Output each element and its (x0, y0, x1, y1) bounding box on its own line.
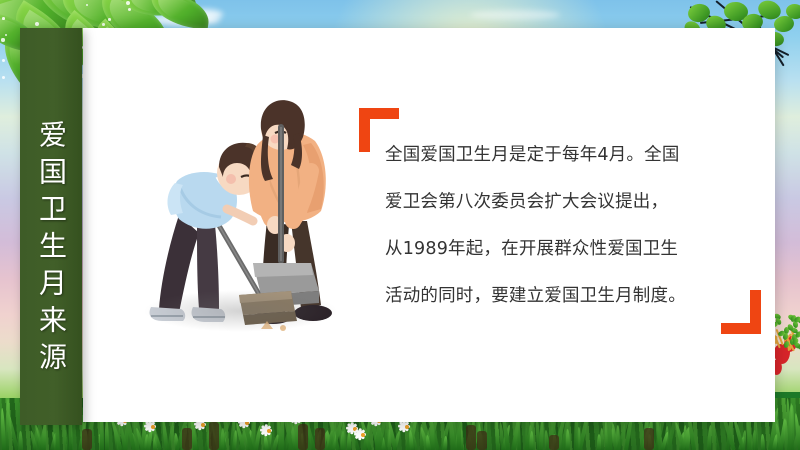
soil-clump-icon (644, 428, 654, 450)
soil-clump-icon (315, 428, 325, 450)
cloud-icon (470, 10, 560, 20)
soil-clump-icon (209, 422, 219, 450)
soil-clump-icon (466, 425, 476, 450)
grass-blade-icon (18, 431, 23, 450)
grass-blade-icon (761, 434, 766, 450)
body-line: 活动的同时，要建立爱国卫生月制度。 (385, 273, 725, 320)
grass-blade-icon (539, 419, 544, 450)
daisy-flower-icon (356, 428, 369, 441)
body-line: 从1989年起，在开展群众性爱国卫生 (385, 226, 725, 273)
grass-blade-icon (565, 429, 569, 450)
dew-drop-icon (86, 4, 88, 6)
body-line: 全国爱国卫生月是定于每年4月。全国 (385, 132, 725, 179)
body-paragraph: 全国爱国卫生月是定于每年4月。全国 爱卫会第八次委员会扩大会议提出， 从1989… (385, 132, 725, 320)
soil-clump-icon (298, 424, 308, 450)
soil-clump-icon (549, 435, 559, 450)
illustration-sweeping (135, 85, 350, 350)
dew-drop-icon (102, 23, 105, 26)
dew-drop-icon (108, 18, 111, 21)
soil-clump-icon (182, 428, 192, 450)
dew-drop-icon (2, 59, 5, 62)
dew-drop-icon (2, 17, 5, 20)
grass-blade-icon (342, 422, 346, 450)
corner-bracket-bottom-right-icon (721, 290, 761, 334)
soil-clump-icon (82, 429, 92, 450)
dew-drop-icon (35, 22, 39, 26)
dew-drop-icon (1, 38, 4, 41)
berry-twig-icon (775, 336, 777, 345)
banner-title-text: 爱国卫生月来源 (37, 120, 65, 379)
grass-blade-icon (0, 408, 6, 450)
vertical-title-banner: 爱国卫生月来源 (20, 28, 82, 425)
body-line: 爱卫会第八次委员会扩大会议提出， (385, 179, 725, 226)
slide-root: 全国爱国卫生月是定于每年4月。全国 爱卫会第八次委员会扩大会议提出， 从1989… (0, 0, 800, 450)
soil-clump-icon (477, 431, 487, 450)
grass-blade-icon (443, 436, 448, 450)
grass-blade-icon (104, 419, 108, 450)
ground-shadow (143, 290, 338, 332)
dew-drop-icon (2, 76, 5, 79)
daisy-flower-icon (262, 424, 275, 437)
